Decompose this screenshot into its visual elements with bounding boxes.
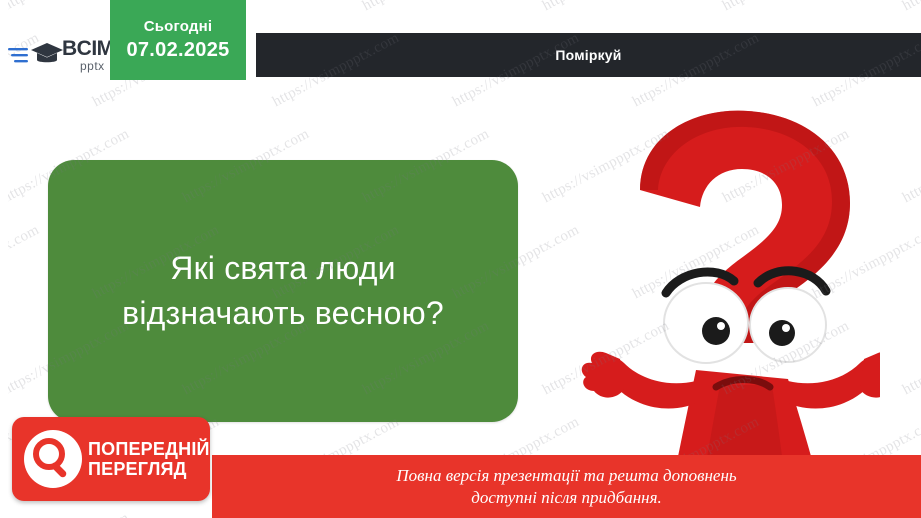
preview-badge-line2: ПЕРЕГЛЯД bbox=[88, 459, 210, 479]
watermark-text: https://vsimppptx.com bbox=[360, 0, 492, 15]
watermark-text: https://vsimppptx.com bbox=[0, 510, 132, 518]
purchase-notice-ribbon: Повна версія презентації та решта доповн… bbox=[212, 455, 921, 518]
watermark-text: https://vsimppptx.com bbox=[900, 318, 921, 399]
watermark-text: https://vsimppptx.com bbox=[720, 0, 852, 15]
header-title: Поміркуй bbox=[256, 33, 921, 77]
logo-suffix: pptx bbox=[80, 60, 114, 72]
magnifier-icon bbox=[22, 428, 84, 490]
watermark-text: https://vsimppptx.com bbox=[540, 0, 672, 15]
speed-lines-icon bbox=[8, 46, 30, 66]
date-badge-label: Сьогодні bbox=[144, 18, 213, 35]
graduation-cap-icon bbox=[30, 41, 64, 67]
header-bar: Поміркуй bbox=[256, 33, 921, 77]
date-badge-value: 07.02.2025 bbox=[126, 39, 229, 62]
question-card: Які свята люди відзначають весною? bbox=[48, 160, 518, 422]
watermark-text: https://vsimppptx.com bbox=[900, 0, 921, 15]
ribbon-line1: Повна версія презентації та решта доповн… bbox=[396, 465, 736, 486]
left-edge bbox=[0, 0, 8, 518]
preview-badge-text: ПОПЕРЕДНІЙ ПЕРЕГЛЯД bbox=[88, 439, 210, 479]
watermark-text: https://vsimppptx.com bbox=[900, 126, 921, 207]
preview-badge-line1: ПОПЕРЕДНІЙ bbox=[88, 439, 210, 459]
logo-text: BCIM pptx bbox=[62, 38, 114, 72]
question-mark-character-illustration bbox=[520, 95, 880, 495]
logo-name: BCIM bbox=[62, 37, 114, 60]
ribbon-line2: доступні після придбання. bbox=[471, 487, 661, 508]
slide: Поміркуй BCIM pptx Сьогодні 07.02.2025 Я… bbox=[0, 0, 921, 518]
question-text: Які свята люди відзначають весною? bbox=[48, 246, 518, 337]
date-badge: Сьогодні 07.02.2025 bbox=[110, 0, 246, 80]
preview-badge: ПОПЕРЕДНІЙ ПЕРЕГЛЯД bbox=[12, 417, 210, 501]
logo-mark bbox=[8, 35, 64, 75]
